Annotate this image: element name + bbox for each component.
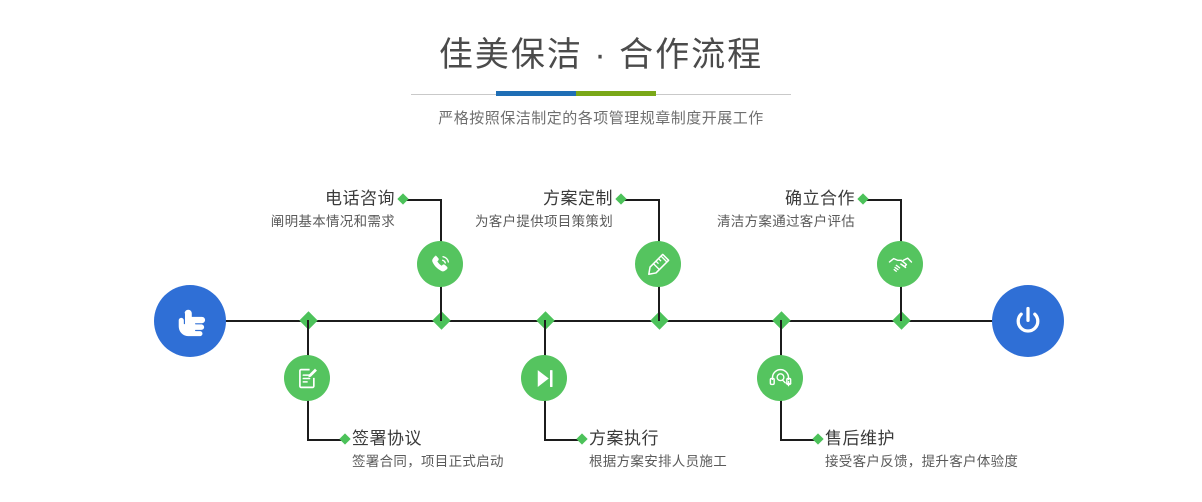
divider-segment-green	[576, 91, 656, 96]
document-edit-icon	[294, 365, 321, 392]
page-subtitle: 严格按照保洁制定的各项管理规章制度开展工作	[0, 108, 1202, 130]
step-title-5: 确立合作	[520, 188, 855, 210]
process-flow-infographic: 佳美保洁 · 合作流程 严格按照保洁制定的各项管理规章制度开展工作	[0, 0, 1202, 502]
arm-5	[864, 199, 902, 201]
phone-ring-icon	[427, 251, 454, 278]
handshake-icon	[887, 251, 914, 278]
header: 佳美保洁 · 合作流程 严格按照保洁制定的各项管理规章制度开展工作	[0, 34, 1202, 130]
step-label-5: 确立合作 清洁方案通过客户评估	[520, 188, 855, 232]
step-desc-6: 接受客户反馈，提升客户体验度	[825, 452, 1175, 472]
customer-service-add-icon	[767, 365, 794, 392]
label-bullet-5	[857, 193, 868, 204]
step-desc-5: 清洁方案通过客户评估	[520, 212, 855, 232]
step-icon-2	[284, 355, 330, 401]
divider-segment-blue	[496, 91, 576, 96]
pointing-hand-icon	[171, 302, 209, 340]
page-title: 佳美保洁 · 合作流程	[0, 34, 1202, 76]
step-icon-5	[877, 241, 923, 287]
step-icon-6	[757, 355, 803, 401]
play-skip-icon	[531, 365, 558, 392]
step-icon-3	[635, 241, 681, 287]
timeline-start-node	[154, 285, 226, 357]
label-bullet-2	[339, 433, 350, 444]
step-label-6: 售后维护 接受客户反馈，提升客户体验度	[825, 428, 1175, 472]
power-icon	[1009, 302, 1047, 340]
step-title-6: 售后维护	[825, 428, 1175, 450]
timeline-end-node	[992, 285, 1064, 357]
step-icon-4	[521, 355, 567, 401]
step-icon-1	[417, 241, 463, 287]
title-divider	[411, 90, 791, 98]
pencil-ruler-icon	[645, 251, 672, 278]
